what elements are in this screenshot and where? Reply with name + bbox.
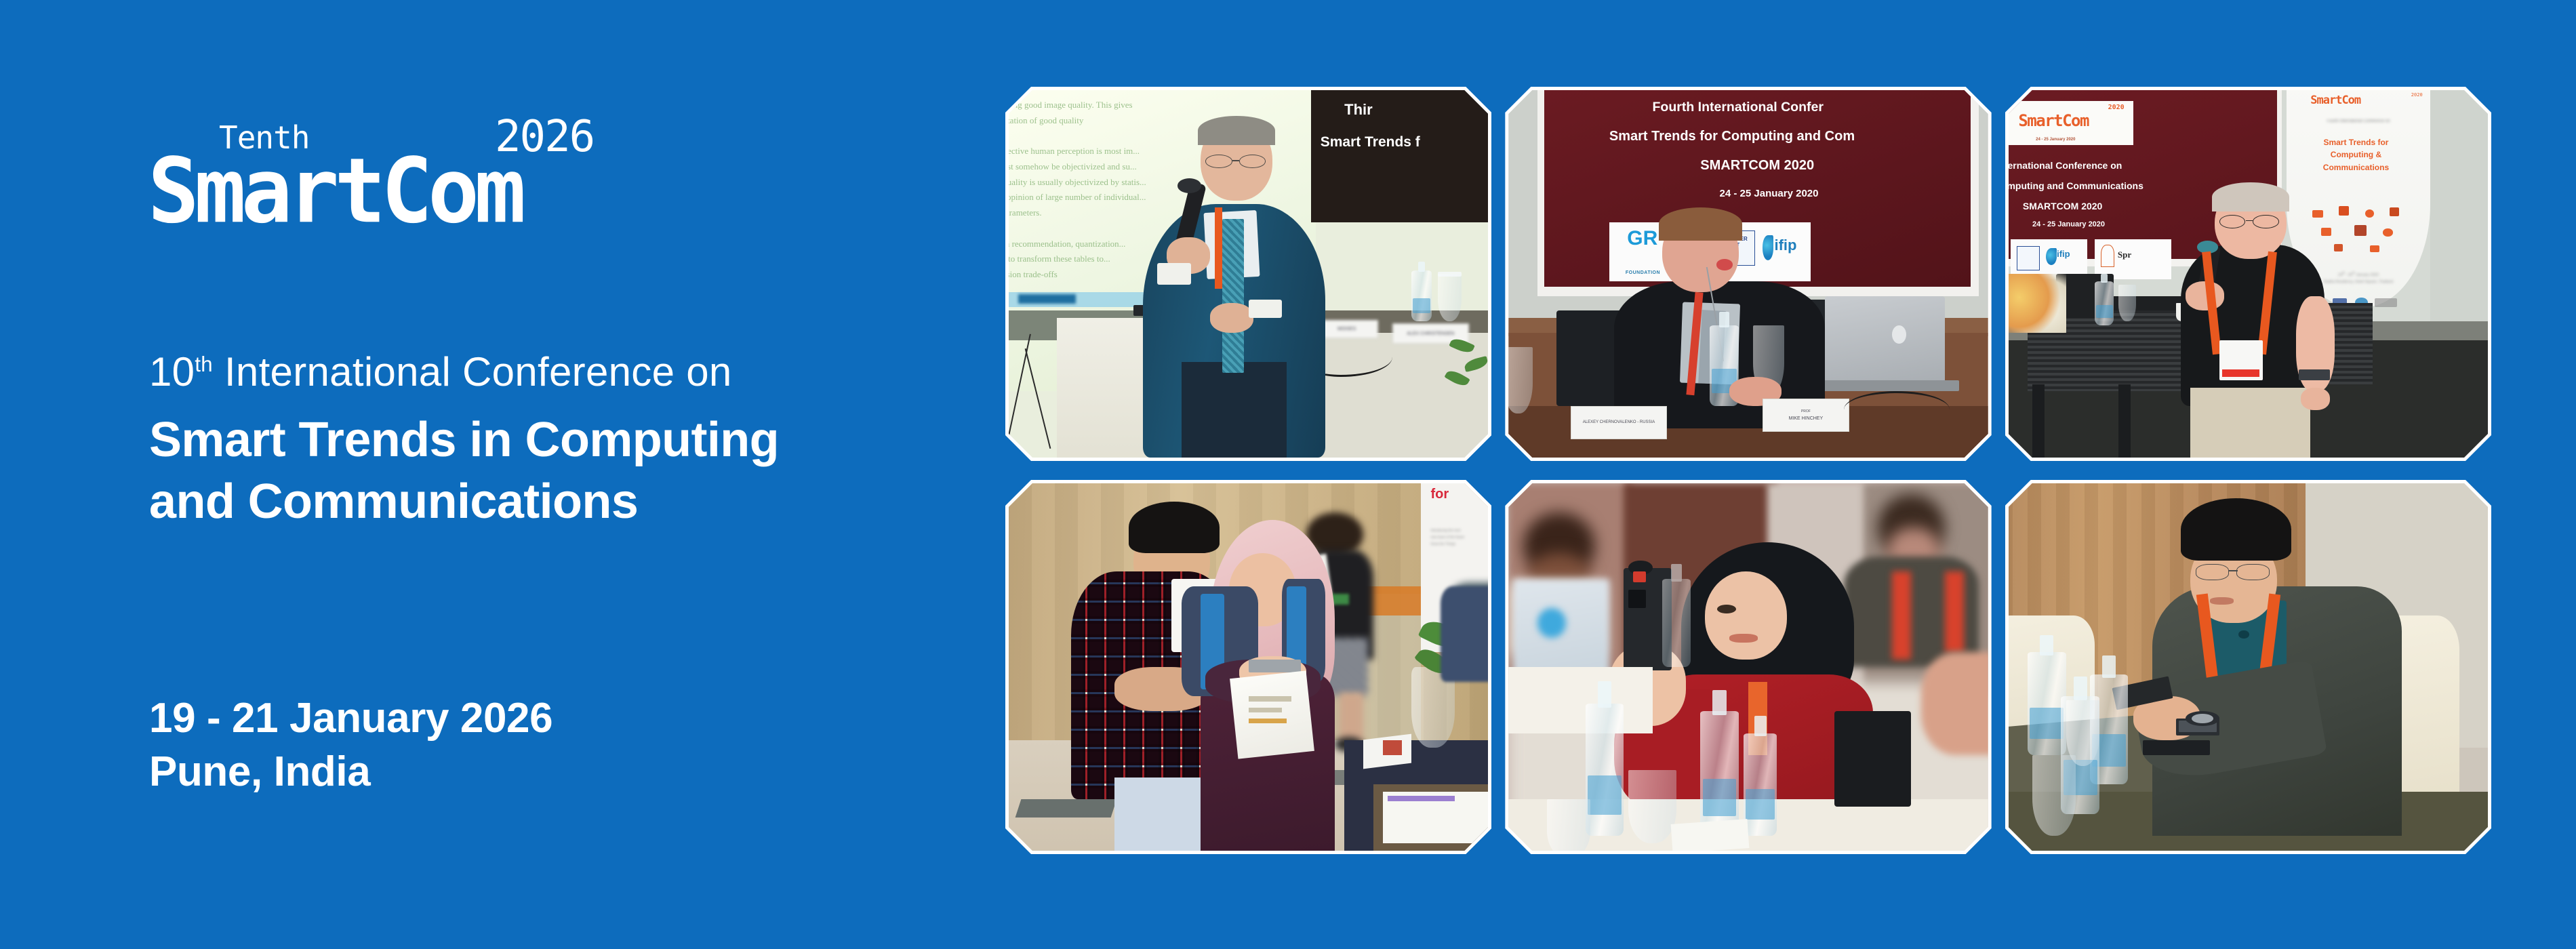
conference-lead-line: 10th International Conference on	[149, 350, 963, 395]
logo-year: 2026	[495, 115, 594, 159]
photo-frame-delegate-at-table	[2005, 480, 2491, 854]
event-details-block: 19 - 21 January 2026 Pune, India	[149, 691, 759, 799]
photo-panel-speaker-at-table: Fourth International Confer Smart Trends…	[1508, 90, 1988, 458]
left-text-column: SmartCom Tenth 2026 10th International C…	[0, 0, 1003, 949]
conference-title-line-2: and Communications	[149, 471, 963, 533]
event-location: Pune, India	[149, 745, 759, 799]
photo-frame-panel-speaker: Fourth International Confer Smart Trends…	[1505, 87, 1991, 461]
photo-frame-delegate-with-phone	[1505, 480, 1991, 854]
photo-delegate-seated-at-conference-table	[2009, 483, 2488, 851]
event-dates: 19 - 21 January 2026	[149, 691, 759, 745]
logo-prefix-tenth: Tenth	[219, 122, 309, 153]
logo-wordmark: SmartCom	[148, 146, 521, 236]
conference-title-block: 10th International Conference on Smart T…	[149, 350, 963, 532]
conference-title-line-1: Smart Trends in Computing	[149, 409, 963, 471]
conference-ordinal-suffix: th	[195, 352, 213, 376]
photo-collage: ...serving good image quality. This give…	[1005, 87, 2491, 854]
photo-standing-speaker-with-microphone: SmartCom 2020 24 - 25 January 2020 th In…	[2009, 90, 2488, 458]
smartcom-logo: SmartCom Tenth 2026	[148, 122, 690, 258]
photo-delegate-photographing-with-phone	[1508, 483, 1988, 851]
photo-frame-two-delegates: for Introducing the nextnew team of the …	[1005, 480, 1491, 854]
collage-row-2: for Introducing the nextnew team of the …	[1005, 480, 2491, 854]
conference-lead-text: International Conference on	[224, 349, 732, 395]
photo-keynote-speaker-with-microphone: ...serving good image quality. This give…	[1009, 90, 1488, 458]
photo-frame-standing-speaker: SmartCom 2020 24 - 25 January 2020 th In…	[2005, 87, 2491, 461]
photo-two-delegates-at-registration-desk: for Introducing the nextnew team of the …	[1009, 483, 1488, 851]
conference-ordinal: 10	[149, 349, 195, 395]
collage-row-1: ...serving good image quality. This give…	[1005, 87, 2491, 461]
photo-frame-keynote-speaker: ...serving good image quality. This give…	[1005, 87, 1491, 461]
